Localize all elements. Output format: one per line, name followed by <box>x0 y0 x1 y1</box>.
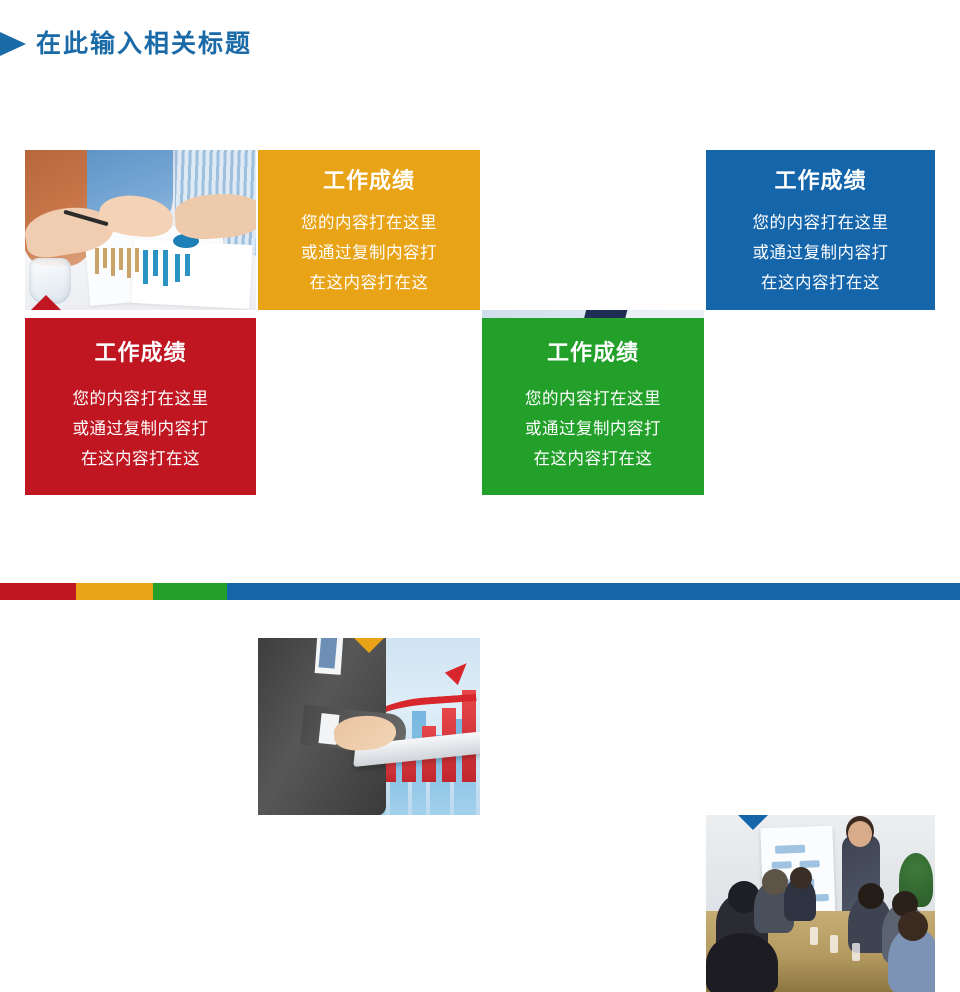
card-title: 工作成绩 <box>706 168 935 194</box>
play-triangle-icon <box>0 32 26 56</box>
photo-water-glass <box>810 927 818 945</box>
photo-chart-bar <box>95 248 99 274</box>
card-title: 工作成绩 <box>258 168 480 194</box>
photo-chart-bar <box>185 254 190 276</box>
photo-presenter-head <box>848 821 872 847</box>
red-pointer-up-icon <box>31 295 61 310</box>
card-body-line: 或通过复制内容打 <box>482 414 704 444</box>
photo-chart-note <box>815 894 829 901</box>
card-body-line: 您的内容打在这里 <box>706 208 935 238</box>
photo-chart-note <box>772 861 792 869</box>
tile-grid: 工作成绩 您的内容打在这里 或通过复制内容打 在这内容打在这 <box>25 150 935 495</box>
photo-chart-bar <box>135 248 139 272</box>
photo-water-glass <box>852 943 860 961</box>
card-body-line: 您的内容打在这里 <box>258 208 480 238</box>
photo-chart-bar <box>163 250 168 286</box>
photo-water-glass <box>830 935 838 953</box>
tile-card-blue[interactable]: 工作成绩 您的内容打在这里 或通过复制内容打 在这内容打在这 <box>706 150 935 310</box>
orange-pointer-down-icon <box>354 638 384 653</box>
photo-report-sheet-2 <box>131 239 252 309</box>
card-body-line: 在这内容打在这 <box>25 444 256 474</box>
tile-photo-boardroom[interactable] <box>706 815 935 992</box>
tile-card-orange[interactable]: 工作成绩 您的内容打在这里 或通过复制内容打 在这内容打在这 <box>258 150 480 310</box>
footer-segment-orange <box>76 583 153 600</box>
card-body-line: 您的内容打在这里 <box>482 384 704 414</box>
photo-chart-bar <box>111 248 115 276</box>
tile-card-red[interactable]: 工作成绩 您的内容打在这里 或通过复制内容打 在这内容打在这 <box>25 318 256 495</box>
footer-segment-red <box>0 583 76 600</box>
photo-chart-note <box>775 845 805 854</box>
photo-attendee <box>706 933 778 992</box>
footer-color-bar <box>0 583 960 600</box>
card-body-line: 或通过复制内容打 <box>258 238 480 268</box>
footer-segment-green <box>153 583 227 600</box>
page-title: 在此输入相关标题 <box>36 27 252 61</box>
photo-chart-bar <box>143 250 148 284</box>
slide-header: 在此输入相关标题 <box>0 0 960 90</box>
tile-photo-meeting-charts[interactable] <box>25 150 256 310</box>
card-body-line: 在这内容打在这 <box>258 268 480 298</box>
photo-attendee-head <box>790 867 812 889</box>
photo-chart-bar <box>175 254 180 282</box>
blue-pointer-down-icon <box>738 815 768 830</box>
footer-segment-blue <box>227 583 960 600</box>
photo-chart-bar <box>103 248 107 268</box>
card-body-line: 您的内容打在这里 <box>25 384 256 414</box>
card-title: 工作成绩 <box>25 340 256 366</box>
photo-attendee-head <box>898 911 928 941</box>
card-body-line: 或通过复制内容打 <box>706 238 935 268</box>
photo-chart-bar <box>119 248 123 270</box>
photo-chart-bar <box>127 248 131 278</box>
card-title: 工作成绩 <box>482 340 704 366</box>
tile-card-green[interactable]: 工作成绩 您的内容打在这里 或通过复制内容打 在这内容打在这 <box>482 318 704 495</box>
photo-arrow-head <box>445 657 473 685</box>
tile-photo-tablet-growth[interactable] <box>258 638 480 815</box>
card-body-line: 在这内容打在这 <box>706 268 935 298</box>
card-body-line: 或通过复制内容打 <box>25 414 256 444</box>
card-body-line: 在这内容打在这 <box>482 444 704 474</box>
photo-chart-bar <box>153 250 158 276</box>
photo-necktie <box>319 638 338 669</box>
photo-attendee-head <box>858 883 884 909</box>
